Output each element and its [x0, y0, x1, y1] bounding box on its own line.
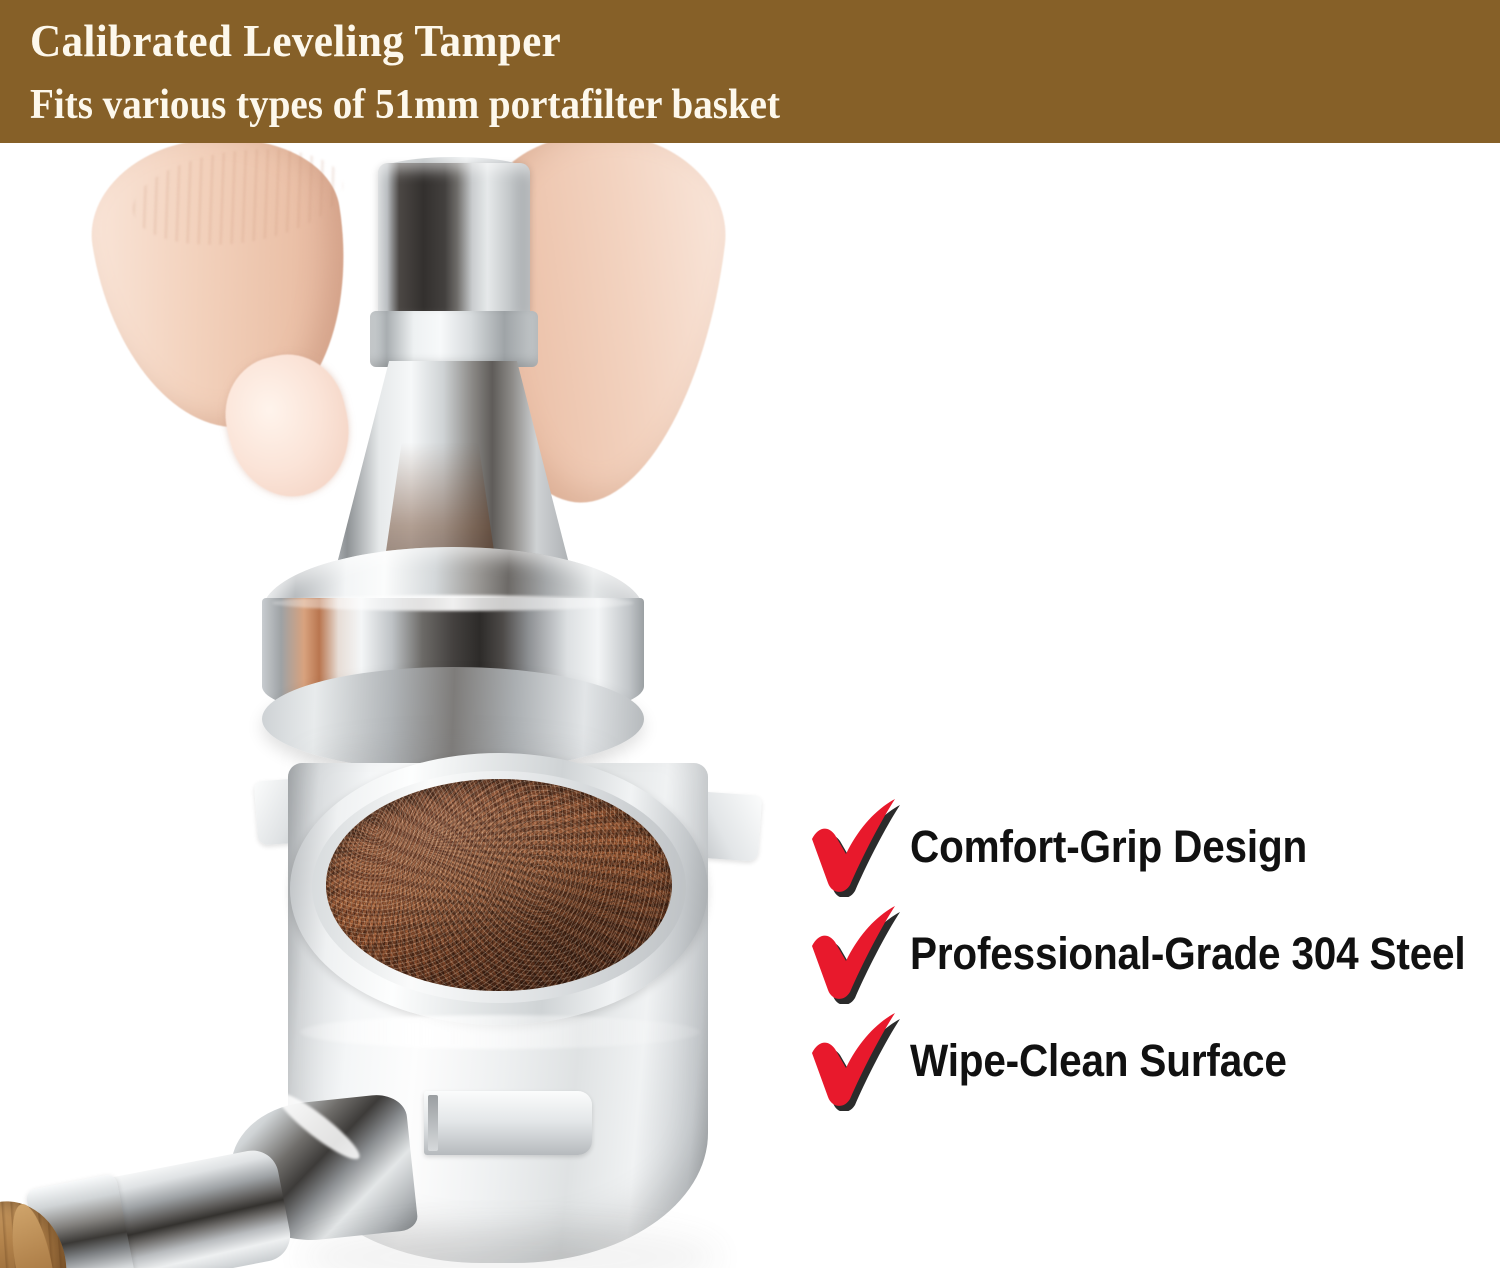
feature-item: Wipe-Clean Surface: [802, 1007, 1492, 1114]
red-check-icon: [802, 797, 906, 897]
feature-label: Comfort-Grip Design: [910, 822, 1307, 872]
feature-item: Comfort-Grip Design: [802, 793, 1492, 900]
feature-label: Professional-Grade 304 Steel: [910, 929, 1465, 979]
tamper-collar: [370, 311, 538, 367]
coffee-grounds-speckles: [326, 779, 672, 991]
tamper-base-highlight: [272, 595, 634, 611]
header-banner: Calibrated Leveling Tamper Fits various …: [0, 0, 1500, 143]
coffee-grounds: [326, 779, 672, 991]
product-infographic: Calibrated Leveling Tamper Fits various …: [0, 0, 1500, 1268]
feature-list: Comfort-Grip Design Professional-Grade 3…: [802, 793, 1492, 1114]
red-check-icon: [802, 1011, 906, 1111]
page-subtitle: Fits various types of 51mm portafilter b…: [30, 80, 780, 130]
portafilter-basket-clip: [424, 1091, 592, 1155]
feature-item: Professional-Grade 304 Steel: [802, 900, 1492, 1007]
red-check-icon: [802, 904, 906, 1004]
portafilter-clip-notch: [428, 1095, 438, 1151]
product-photo: Comfort-Grip Design Professional-Grade 3…: [0, 143, 1500, 1268]
tamper-knob: [378, 163, 530, 315]
feature-label: Wipe-Clean Surface: [910, 1036, 1287, 1086]
portafilter-highlight-band: [300, 1015, 700, 1049]
page-title: Calibrated Leveling Tamper: [30, 14, 561, 68]
